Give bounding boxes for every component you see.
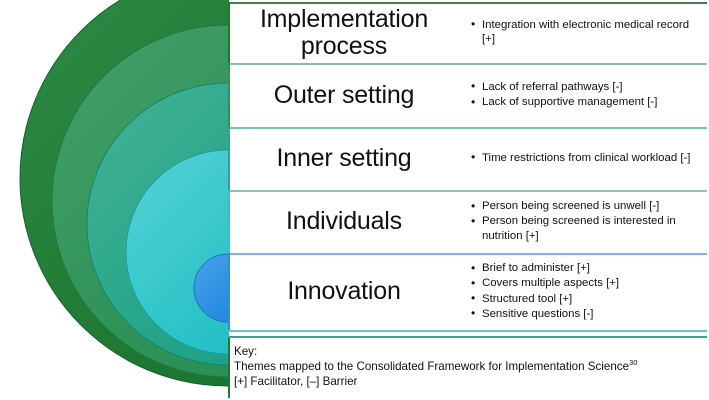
table-row: Individuals Person being screened is unw… <box>228 190 707 253</box>
list-item: Lack of referral pathways [-] <box>470 80 701 95</box>
table-row: Outer setting Lack of referral pathways … <box>228 63 707 127</box>
row-divider <box>228 190 707 192</box>
row-label-inner-setting: Inner setting <box>228 145 460 172</box>
list-item: Integration with electronic medical reco… <box>470 18 701 47</box>
key-heading: Key: <box>234 344 707 359</box>
row-label-outer-setting: Outer setting <box>228 82 460 109</box>
table-row: Implementation process Integration with … <box>228 2 707 63</box>
list-item: Time restrictions from clinical workload… <box>470 151 701 166</box>
list-item: Covers multiple aspects [+] <box>470 276 701 291</box>
key-line-science-superscript: 30 <box>629 358 637 367</box>
key-legend-box: Key: Themes mapped to the Consolidated F… <box>228 338 707 398</box>
row-divider <box>228 63 707 65</box>
list-item: Person being screened is interested in n… <box>470 214 701 243</box>
row-bullets-outer-setting: Lack of referral pathways [-] Lack of su… <box>460 80 707 110</box>
row-left-border <box>228 2 230 63</box>
key-divider-top <box>228 336 707 338</box>
list-item: Person being screened is unwell [-] <box>470 199 701 214</box>
table-row: Inner setting Time restrictions from cli… <box>228 127 707 190</box>
row-label-individuals: Individuals <box>228 208 460 235</box>
list-item: Structured tool [+] <box>470 292 701 307</box>
row-divider <box>228 2 707 4</box>
row-label-innovation: Innovation <box>228 278 460 305</box>
key-line-facilitator-barrier: [+] Facilitator, [–] Barrier <box>234 374 707 389</box>
row-label-implementation-process: Implementation process <box>228 6 460 60</box>
row-bullets-individuals: Person being screened is unwell [-] Pers… <box>460 199 707 244</box>
list-item: Sensitive questions [-] <box>470 307 701 322</box>
key-left-border <box>228 338 230 398</box>
row-left-border <box>228 253 230 330</box>
row-bullets-innovation: Brief to administer [+] Covers multiple … <box>460 261 707 321</box>
cfir-framework-figure: Implementation process Integration with … <box>0 0 709 400</box>
row-divider-bottom <box>228 330 707 332</box>
list-item: Brief to administer [+] <box>470 261 701 276</box>
key-line-science: Themes mapped to the Consolidated Framew… <box>234 359 707 374</box>
key-line-science-text: Themes mapped to the Consolidated Framew… <box>234 360 629 373</box>
list-item: Lack of supportive management [-] <box>470 95 701 110</box>
row-left-border <box>228 127 230 190</box>
row-bullets-implementation-process: Integration with electronic medical reco… <box>460 18 707 48</box>
row-divider <box>228 127 707 129</box>
row-left-border <box>228 190 230 253</box>
table-row: Innovation Brief to administer [+] Cover… <box>228 253 707 330</box>
row-bullets-inner-setting: Time restrictions from clinical workload… <box>460 151 707 166</box>
row-divider <box>228 253 707 255</box>
row-left-border <box>228 63 230 127</box>
